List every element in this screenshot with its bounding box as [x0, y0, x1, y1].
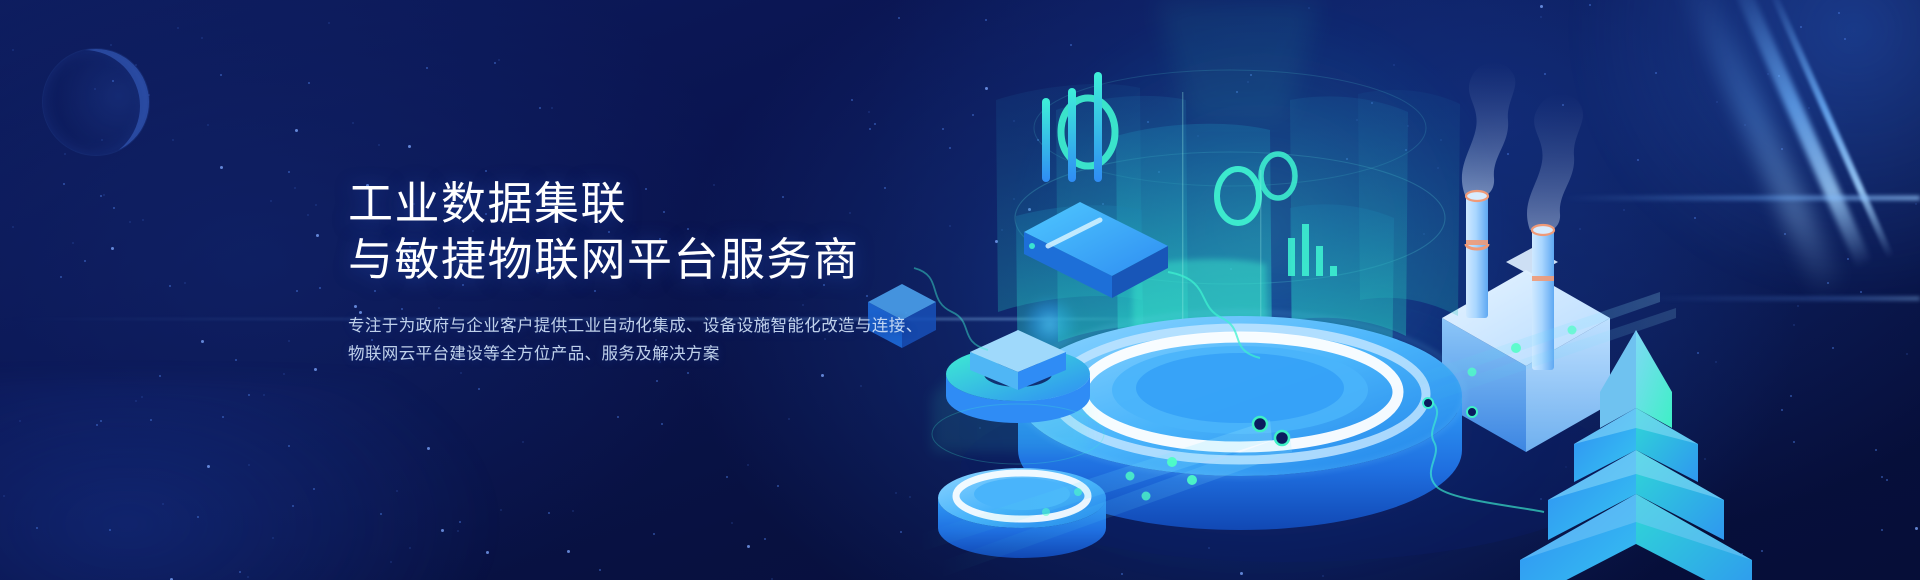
holo-scanline-1: [1182, 92, 1183, 342]
holo-bar-1: [1288, 238, 1295, 276]
beam-particle-3: [1187, 475, 1197, 485]
beam-node-2: [1275, 431, 1289, 445]
holo-bar-3: [1316, 246, 1323, 276]
isometric-illustration: [960, 0, 1920, 580]
beam-particle-6: [1042, 508, 1050, 516]
subtitle-line-2: 物联网云平台建设等全方位产品、服务及解决方案: [348, 340, 1048, 368]
headline-line-2: 与敏捷物联网平台服务商: [348, 232, 1048, 288]
chimney-right: [1532, 230, 1554, 370]
beam-particle-7: [1511, 343, 1521, 353]
crescent-planet-icon: [42, 48, 150, 156]
holo-bar-4: [1330, 266, 1337, 276]
beam-particle-4: [1142, 492, 1151, 501]
beam-node-1: [1253, 417, 1267, 431]
holo-bar-2: [1302, 224, 1309, 276]
chimney-left: [1466, 196, 1488, 318]
headline-line-1: 工业数据集联: [348, 176, 1048, 232]
router-antenna-2: [1068, 88, 1076, 182]
hero-banner: 工业数据集联 与敏捷物联网平台服务商 专注于为政府与企业客户提供工业自动化集成、…: [0, 0, 1920, 580]
beam-particle-5: [1074, 488, 1082, 496]
beam-particle-8: [1568, 326, 1577, 335]
router-antenna-3: [1094, 72, 1102, 182]
smoke-plume-right: [1527, 94, 1583, 233]
beam-particle-2: [1126, 472, 1135, 481]
wire-node-dot: [1423, 398, 1433, 408]
beam-particle-9: [1468, 368, 1477, 377]
router-antenna-1: [1042, 98, 1050, 182]
factory-port-light-2: [1467, 407, 1477, 417]
base-inner-disc-2: [1136, 353, 1344, 423]
chimney-right-band-fill: [1532, 276, 1554, 281]
beam-particle-1: [1167, 457, 1177, 467]
subtitle-line-1: 专注于为政府与企业客户提供工业自动化集成、设备设施智能化改造与连接、: [348, 312, 1048, 340]
banner-copy: 工业数据集联 与敏捷物联网平台服务商 专注于为政府与企业客户提供工业自动化集成、…: [348, 176, 1048, 368]
chimney-left-band-fill: [1466, 240, 1488, 245]
